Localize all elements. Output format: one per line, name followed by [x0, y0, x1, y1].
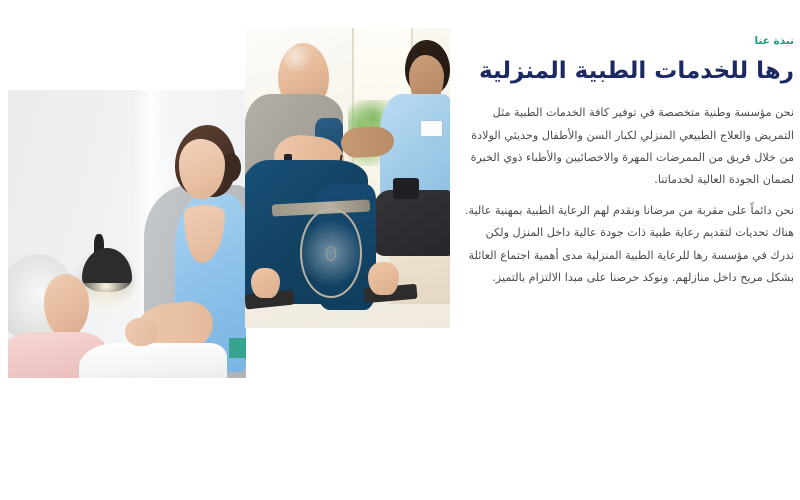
- about-paragraph-1: نحن مؤسسة وطنية متخصصة في توفير كافة الخ…: [464, 102, 794, 192]
- elderly-woman-face: [44, 274, 89, 337]
- photo-caregiver-elderly-woman: [8, 90, 246, 378]
- nurse-trousers: [372, 190, 450, 256]
- blood-pressure-monitor: [393, 178, 420, 199]
- patient-head-highlight: [284, 46, 313, 73]
- about-body-copy: نحن مؤسسة وطنية متخصصة في توفير كافة الخ…: [464, 102, 794, 289]
- about-text-column: نبذة عنا رها للخدمات الطبية المنزلية نحن…: [464, 34, 794, 289]
- page-title: رها للخدمات الطبية المنزلية: [464, 57, 794, 86]
- section-eyebrow: نبذة عنا: [464, 34, 794, 49]
- wheelchair-hub: [326, 246, 336, 261]
- nurse-name-badge: [421, 121, 442, 136]
- about-us-section: نبذة عنا رها للخدمات الطبية المنزلية نحن…: [0, 0, 800, 500]
- caregiver-hand: [125, 318, 158, 347]
- patient-foot-right: [368, 262, 399, 295]
- photo-wheelchair-blood-pressure: [245, 28, 450, 328]
- about-paragraph-2: نحن دائماً على مقربة من مرضانا ونقدم لهم…: [464, 200, 794, 290]
- patient-foot-left: [251, 268, 280, 298]
- photo-collage: [0, 0, 460, 390]
- teal-accent-sliver: [229, 338, 246, 358]
- bed-blanket: [79, 343, 227, 378]
